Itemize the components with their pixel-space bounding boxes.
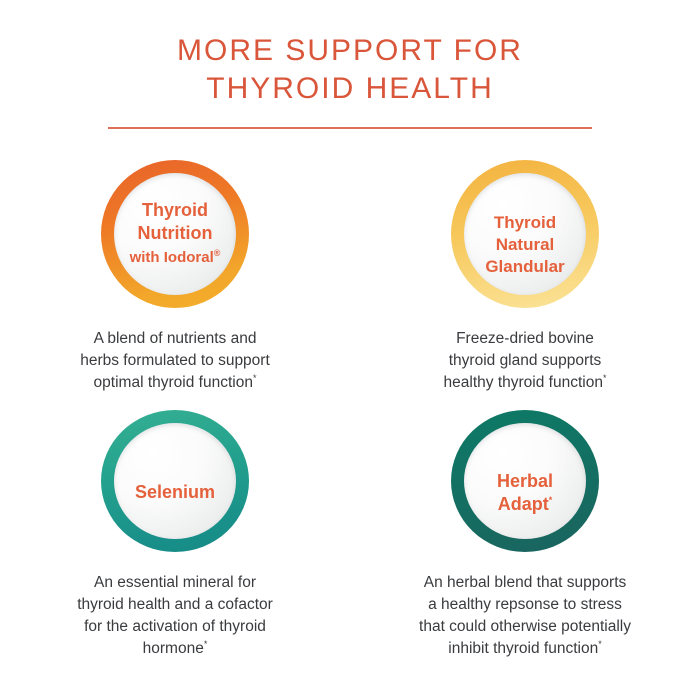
badge-label-text: Selenium (135, 482, 215, 502)
asterisk-icon: * (204, 639, 208, 649)
header: MORE SUPPORT FOR THYROID HEALTH (0, 32, 700, 129)
badge-thyroid-nutrition: Thyroid Nutrition with Iodoral® (101, 160, 249, 308)
badge-sublabel: with Iodoral® (130, 246, 221, 269)
badge-label: Herbal Adapt* (491, 447, 559, 516)
page-title: MORE SUPPORT FOR THYROID HEALTH (0, 32, 700, 108)
product-card-grid: Thyroid Nutrition with Iodoral® A blend … (0, 160, 700, 660)
badge-label: Selenium (129, 458, 221, 504)
card-description: An herbal blend that supports a healthy … (365, 572, 685, 660)
asterisk-icon: * (549, 495, 553, 505)
badge-sublabel-text: with Iodoral (130, 249, 214, 266)
product-card-herbal-adapt: Herbal Adapt* An herbal blend that suppo… (350, 410, 700, 660)
badge-thyroid-natural-glandular: Thyroid Natural Glandular (451, 160, 599, 308)
badge-label: Thyroid Natural Glandular (479, 190, 570, 278)
badge-label-text: Thyroid Nutrition (138, 200, 213, 243)
product-card-thyroid-natural-glandular: Thyroid Natural Glandular Freeze-dried b… (350, 160, 700, 410)
badge-herbal-adapt: Herbal Adapt* (451, 410, 599, 552)
product-card-selenium: Selenium An essential mineral for thyroi… (0, 410, 350, 660)
asterisk-icon: * (603, 373, 607, 383)
registered-mark-icon: ® (214, 248, 221, 258)
badge-label: Thyroid Nutrition with Iodoral® (124, 176, 227, 292)
header-divider (108, 127, 592, 129)
card-description: An essential mineral for thyroid health … (15, 572, 335, 660)
thyroid-support-infographic: MORE SUPPORT FOR THYROID HEALTH Thyroid … (0, 0, 700, 700)
badge-label-text: Herbal Adapt (497, 471, 553, 514)
asterisk-icon: * (253, 373, 257, 383)
asterisk-icon: * (598, 639, 602, 649)
card-description: Freeze-dried bovine thyroid gland suppor… (375, 328, 675, 394)
badge-label-text: Thyroid Natural Glandular (485, 213, 564, 276)
card-description-text: Freeze-dried bovine thyroid gland suppor… (444, 330, 603, 391)
product-card-thyroid-nutrition: Thyroid Nutrition with Iodoral® A blend … (0, 160, 350, 410)
card-description-text: A blend of nutrients and herbs formulate… (80, 330, 270, 391)
badge-selenium: Selenium (101, 410, 249, 552)
card-description-text: An essential mineral for thyroid health … (77, 574, 273, 657)
card-description: A blend of nutrients and herbs formulate… (25, 328, 325, 394)
